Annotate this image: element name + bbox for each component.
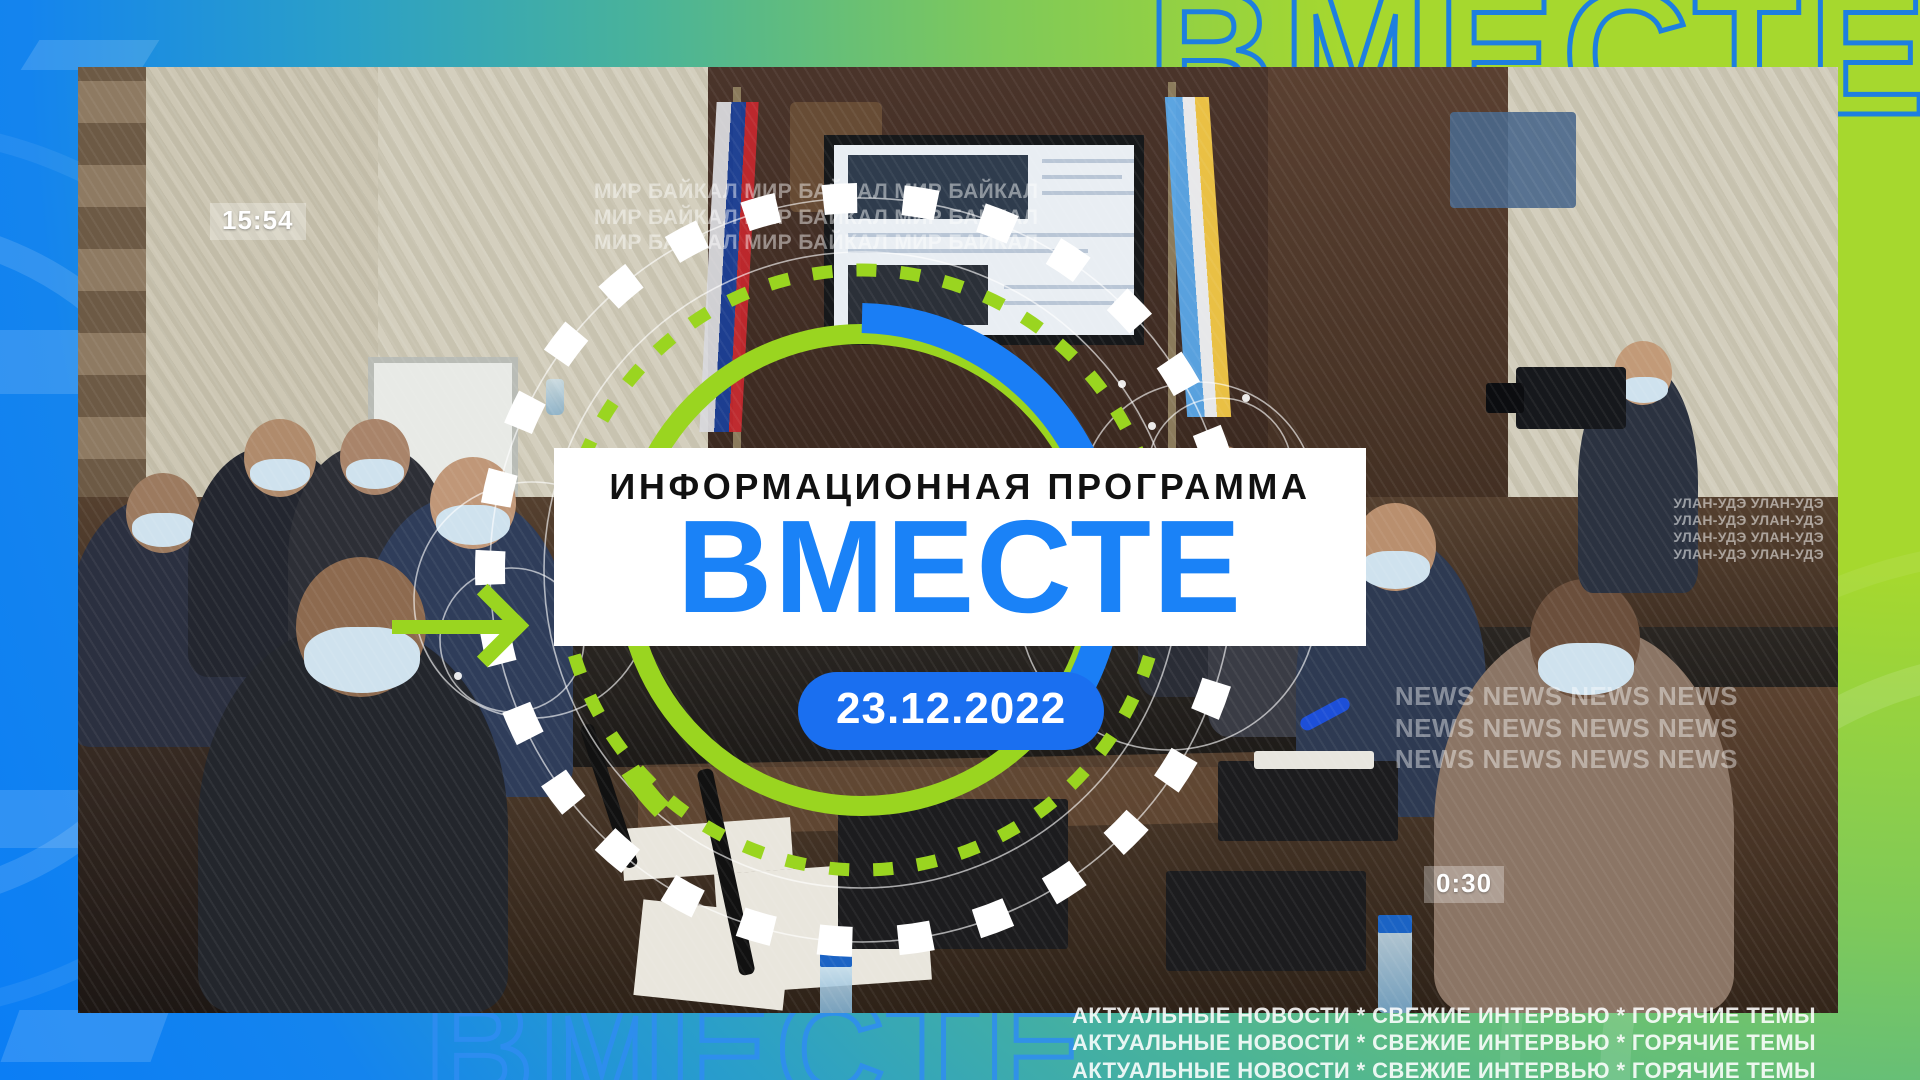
bottom-ticker: АКТУАЛЬНЫЕ НОВОСТИ * СВЕЖИЕ ИНТЕРВЬЮ * Г… <box>1072 1002 1816 1080</box>
timecode-elapsed: 15:54 <box>210 203 306 240</box>
timecode-remaining: 0:30 <box>1424 866 1504 903</box>
watermark-city: УЛАН-УДЭ УЛАН-УДЭ УЛАН-УДЭ УЛАН-УДЭ УЛАН… <box>1673 495 1824 563</box>
background-shard <box>1 1010 170 1062</box>
title-card: ИНФОРМАЦИОННАЯ ПРОГРАММА ВМЕСТЕ <box>554 448 1366 646</box>
tv-camera <box>1516 367 1626 429</box>
watermark-baikal: МИР БАЙКАЛ МИР БАЙКАЛ МИР БАЙКАЛ МИР БАЙ… <box>594 179 1038 256</box>
green-arrow-icon <box>392 620 510 634</box>
program-title: ВМЕСТЕ <box>677 504 1243 631</box>
watermark-news: NEWS NEWS NEWS NEWS NEWS NEWS NEWS NEWS … <box>1395 681 1738 776</box>
broadcast-title-card: ВМЕСТЕ ВМЕСТЕ ВМЕСТЕ <box>0 0 1920 1080</box>
date-badge: 23.12.2022 <box>798 672 1104 750</box>
regional-emblem <box>1450 112 1576 208</box>
